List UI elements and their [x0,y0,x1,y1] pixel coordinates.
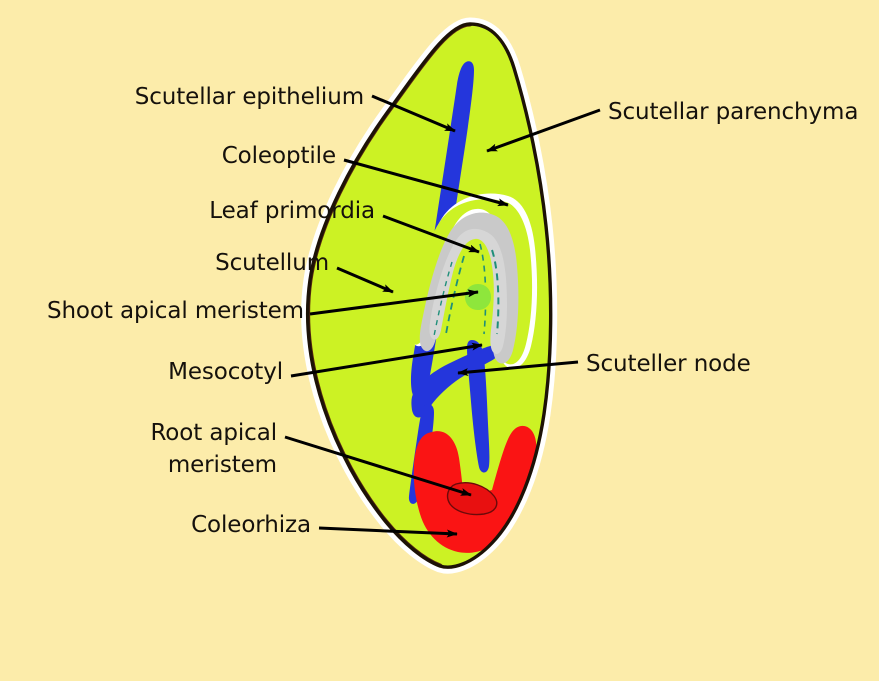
label-coleorhiza: Coleorhiza [0,510,319,540]
label-scutellar-epithelium: Scutellar epithelium [0,82,372,112]
label-shoot-apical-meristem: Shoot apical meristem [0,296,312,326]
label-root-apical-meristem-line2: meristem [0,450,277,480]
label-scutellar-parenchyma: Scutellar parenchyma [608,97,858,127]
label-leaf-primordia: Leaf primordia [0,196,383,226]
label-scuteller-node: Scuteller node [586,349,751,379]
label-coleoptile: Coleoptile [0,141,344,171]
seed-anatomy-diagram: Scutellar epithelium Coleoptile Leaf pri… [0,0,879,681]
label-root-apical-meristem: Root apical meristem [0,418,285,480]
label-mesocotyl: Mesocotyl [0,357,291,387]
label-root-apical-meristem-line1: Root apical [0,418,277,448]
label-scutellum: Scutellum [0,248,337,278]
shoot-apical-meristem [465,284,491,310]
